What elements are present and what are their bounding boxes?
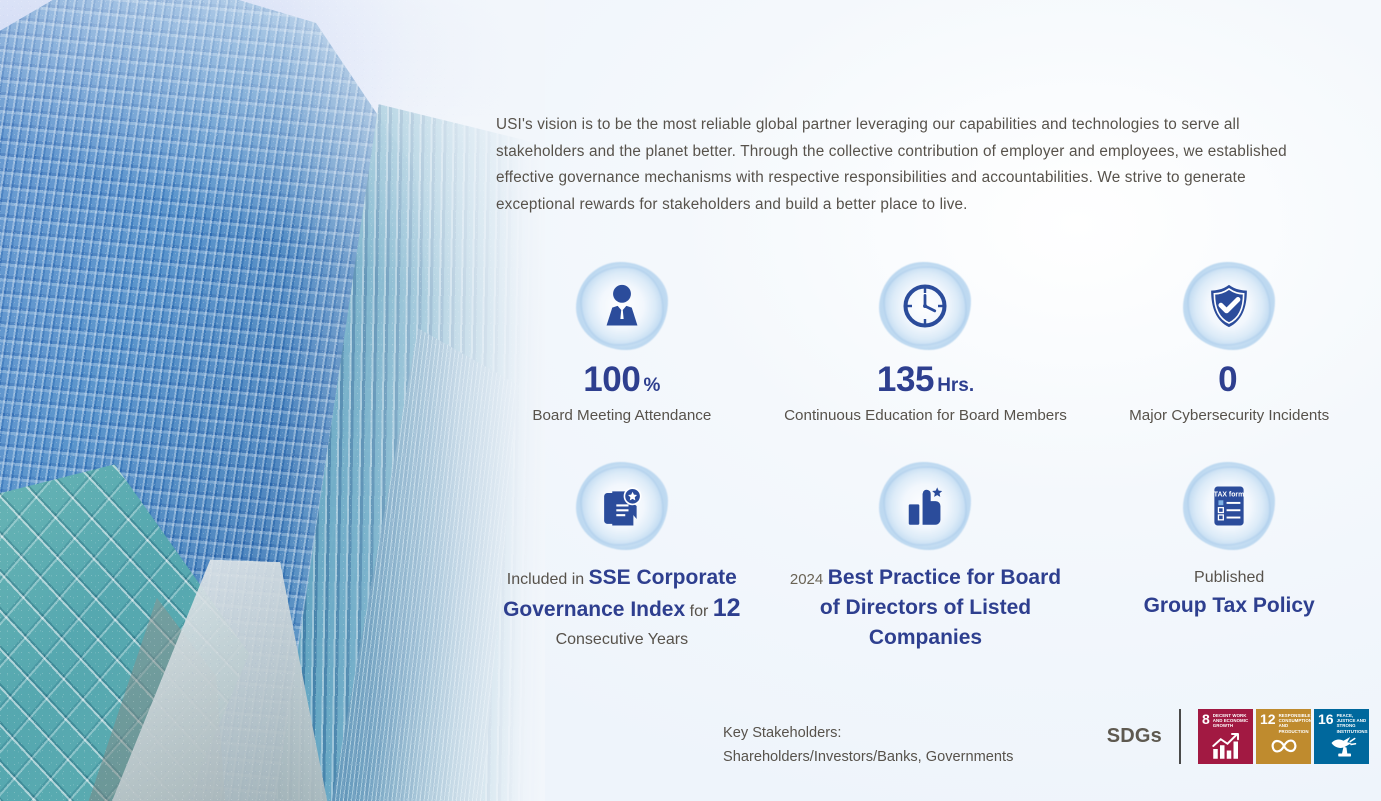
stat-caption: Continuous Education for Board Members	[782, 404, 1070, 428]
stat-value-line: 0	[1085, 360, 1373, 400]
badge-businessman	[576, 262, 668, 350]
award-text: Published Group Tax Policy	[1085, 564, 1373, 622]
stat-unit: Hrs.	[937, 375, 974, 396]
sdg-label: SDGs	[1107, 725, 1162, 748]
stats-grid: 100% Board Meeting Attendance	[470, 262, 1381, 667]
key-stakeholders: Key Stakeholders: Shareholders/Investors…	[723, 721, 1013, 769]
award-lead: Included in	[507, 571, 584, 588]
governance-infographic-page: USI's vision is to be the most reliable …	[0, 0, 1381, 801]
stat-value-line: 135Hrs.	[782, 360, 1070, 400]
photo-right-fade	[0, 0, 545, 801]
stat-board-meeting-attendance: 100% Board Meeting Attendance	[470, 262, 774, 462]
badge-clock	[879, 262, 971, 350]
award-text: Included in SSE Corporate Governance Ind…	[478, 564, 766, 654]
stat-caption: Major Cybersecurity Incidents	[1085, 404, 1373, 428]
skyscraper-photo	[0, 0, 545, 801]
key-stakeholders-value: Shareholders/Investors/Banks, Government…	[723, 745, 1013, 769]
award-text: 2024 Best Practice for Board of Director…	[782, 564, 1070, 654]
sdg-badge-16[interactable]: 16 Peace, justice and strong institution…	[1314, 709, 1369, 764]
award-lead: Published	[1194, 569, 1264, 586]
stat-caption: Board Meeting Attendance	[478, 404, 766, 428]
stat-value-line: 100%	[478, 360, 766, 400]
stat-value: 100	[583, 360, 640, 399]
sdg-number: 8	[1202, 713, 1210, 725]
stat-value: 0	[1218, 360, 1237, 399]
stat-sse-corporate-governance-index: Included in SSE Corporate Governance Ind…	[470, 462, 774, 667]
sdg-title: Decent work and economic growth	[1213, 713, 1250, 729]
content-column: USI's vision is to be the most reliable …	[470, 0, 1381, 801]
shield-check-icon	[1203, 280, 1255, 332]
tax-form-icon: TAX form	[1203, 480, 1255, 532]
footer: Key Stakeholders: Shareholders/Investors…	[470, 709, 1381, 787]
award-mid: for	[690, 603, 709, 620]
svg-text:TAX form: TAX form	[1214, 491, 1245, 498]
sdg-badge-12[interactable]: 12 Responsible consumption and productio…	[1256, 709, 1311, 764]
sdg-badge-8[interactable]: 8 Decent work and economic growth	[1198, 709, 1253, 764]
badge-shield	[1183, 262, 1275, 350]
award-tail: Consecutive Years	[556, 631, 689, 648]
stat-best-practice-award: 2024 Best Practice for Board of Director…	[774, 462, 1078, 667]
badge-tax-form: TAX form	[1183, 462, 1275, 550]
award-highlight: Best Practice for Board of Directors of …	[820, 566, 1061, 649]
clock-icon	[899, 280, 951, 332]
stat-group-tax-policy: TAX form Published Group Tax Policy	[1077, 462, 1381, 667]
sdg-badges: 8 Decent work and economic growth	[1198, 709, 1369, 764]
award-year: 2024	[790, 571, 823, 588]
award-number: 12	[713, 594, 741, 622]
sdg-number: 16	[1318, 713, 1334, 725]
vision-paragraph: USI's vision is to be the most reliable …	[496, 112, 1308, 218]
growth-chart-icon	[1198, 731, 1253, 761]
infinity-icon	[1256, 731, 1311, 761]
thumbs-up-star-icon	[899, 480, 951, 532]
stat-continuous-education: 135Hrs. Continuous Education for Board M…	[774, 262, 1078, 462]
stat-value: 135	[877, 360, 934, 399]
stat-unit: %	[644, 375, 661, 396]
sdg-head: 8 Decent work and economic growth	[1198, 709, 1253, 729]
businessman-icon	[596, 280, 648, 332]
dove-gavel-icon	[1314, 731, 1369, 761]
badge-thumbs-up	[879, 462, 971, 550]
sdg-divider	[1179, 709, 1181, 764]
certificate-award-icon	[596, 480, 648, 532]
stat-cybersecurity-incidents: 0 Major Cybersecurity Incidents	[1077, 262, 1381, 462]
sdg-section: SDGs 8 Decent work and economic growth	[1107, 709, 1369, 764]
badge-certificate	[576, 462, 668, 550]
award-highlight: Group Tax Policy	[1144, 594, 1315, 617]
key-stakeholders-label: Key Stakeholders:	[723, 721, 1013, 745]
sdg-number: 12	[1260, 713, 1276, 725]
